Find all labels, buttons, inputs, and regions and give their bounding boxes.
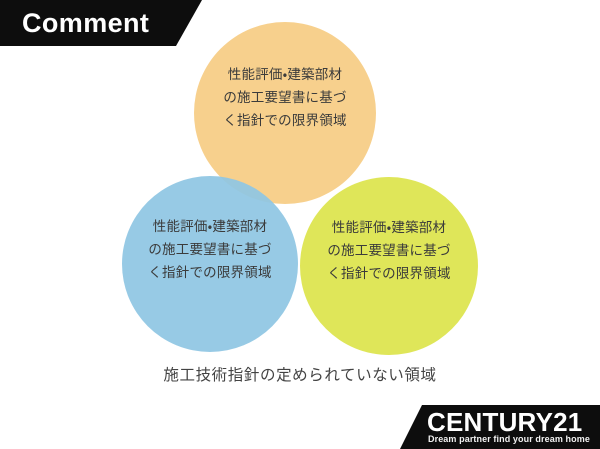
- brand-logo-text: CENTURY21: [427, 408, 582, 437]
- venn-label-left-line-1: 性能評価・建築部材: [132, 216, 288, 239]
- venn-label-top-line-2: の施工要望書に基づ: [207, 87, 363, 110]
- venn-label-left-line-2: の施工要望書に基づ: [132, 239, 288, 262]
- venn-label-left: 性能評価・建築部材 の施工要望書に基づ く指針での限界領域: [132, 216, 288, 285]
- venn-label-right-line-3: く指針での限界領域: [311, 263, 467, 286]
- venn-label-right-line-1: 性能評価・建築部材: [311, 217, 467, 240]
- venn-label-right: 性能評価・建築部材 の施工要望書に基づ く指針での限界領域: [311, 217, 467, 286]
- venn-label-top-line-3: く指針での限界領域: [207, 110, 363, 133]
- venn-label-left-line-3: く指針での限界領域: [132, 262, 288, 285]
- page-title: Comment: [22, 7, 149, 39]
- diagram-caption: 施工技術指針の定められていない領域: [0, 363, 600, 385]
- slide-canvas: Comment 性能評価・建築部材 の施工要望書に基づ く指針での限界領域 性能…: [0, 0, 600, 449]
- venn-label-top: 性能評価・建築部材 の施工要望書に基づ く指針での限界領域: [207, 64, 363, 133]
- venn-label-right-line-2: の施工要望書に基づ: [311, 240, 467, 263]
- venn-label-top-line-1: 性能評価・建築部材: [207, 64, 363, 87]
- brand-tagline: Dream partner find your dream home: [428, 434, 590, 445]
